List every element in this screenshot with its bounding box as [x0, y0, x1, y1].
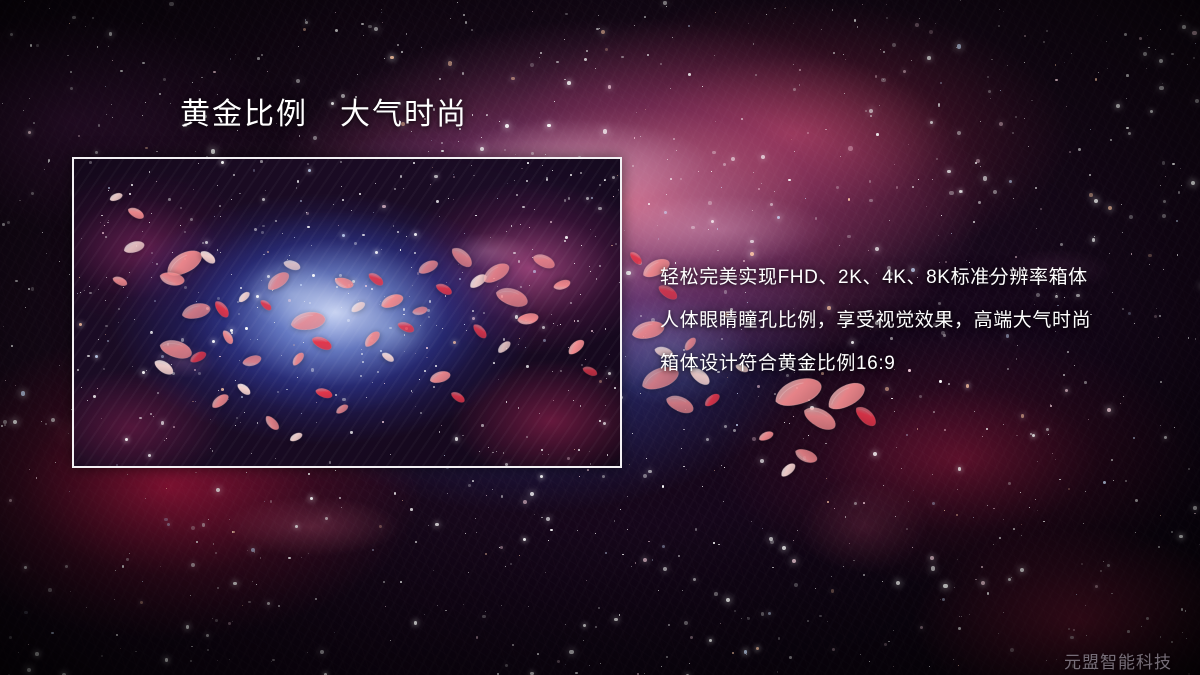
slide-canvas: 黄金比例 大气时尚 轻松完美实现FHD、2K、4K、8K标准分辨率箱体 人体眼睛…: [0, 0, 1200, 675]
description-text: 轻松完美实现FHD、2K、4K、8K标准分辨率箱体 人体眼睛瞳孔比例，享受视觉效…: [660, 256, 1180, 385]
description-line-2: 人体眼睛瞳孔比例，享受视觉效果，高端大气时尚: [660, 299, 1180, 342]
description-line-1: 轻松完美实现FHD、2K、4K、8K标准分辨率箱体: [660, 256, 1180, 299]
watermark: 元盟智能科技: [1064, 648, 1172, 673]
page-title: 黄金比例 大气时尚: [180, 100, 468, 130]
description-line-3: 箱体设计符合黄金比例16:9: [660, 342, 1180, 385]
panel-image: [74, 159, 620, 466]
framed-image-panel: [72, 157, 622, 468]
panel-nebula-wisps: [74, 159, 620, 466]
